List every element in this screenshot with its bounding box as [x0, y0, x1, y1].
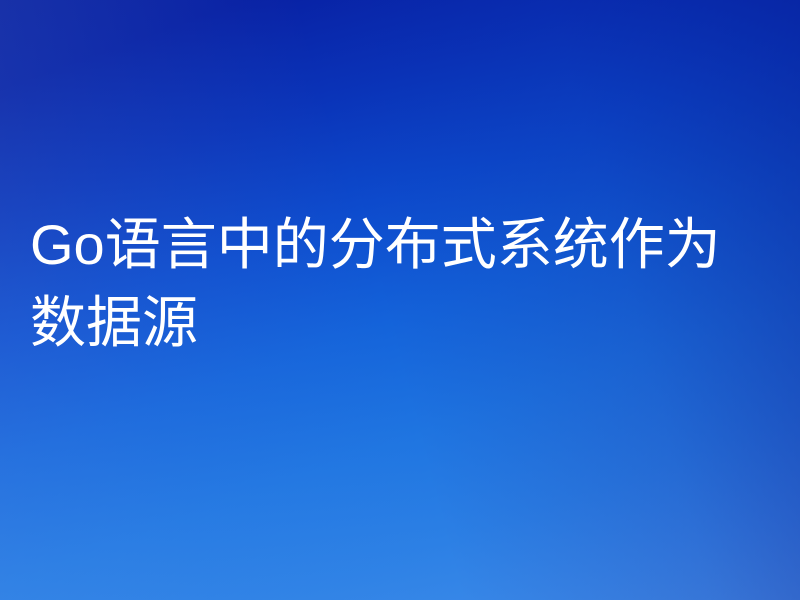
page-title: Go语言中的分布式系统作为数据源 [30, 206, 775, 362]
cover-card: Go语言中的分布式系统作为数据源 [0, 0, 800, 600]
title-block: Go语言中的分布式系统作为数据源 [30, 206, 775, 362]
